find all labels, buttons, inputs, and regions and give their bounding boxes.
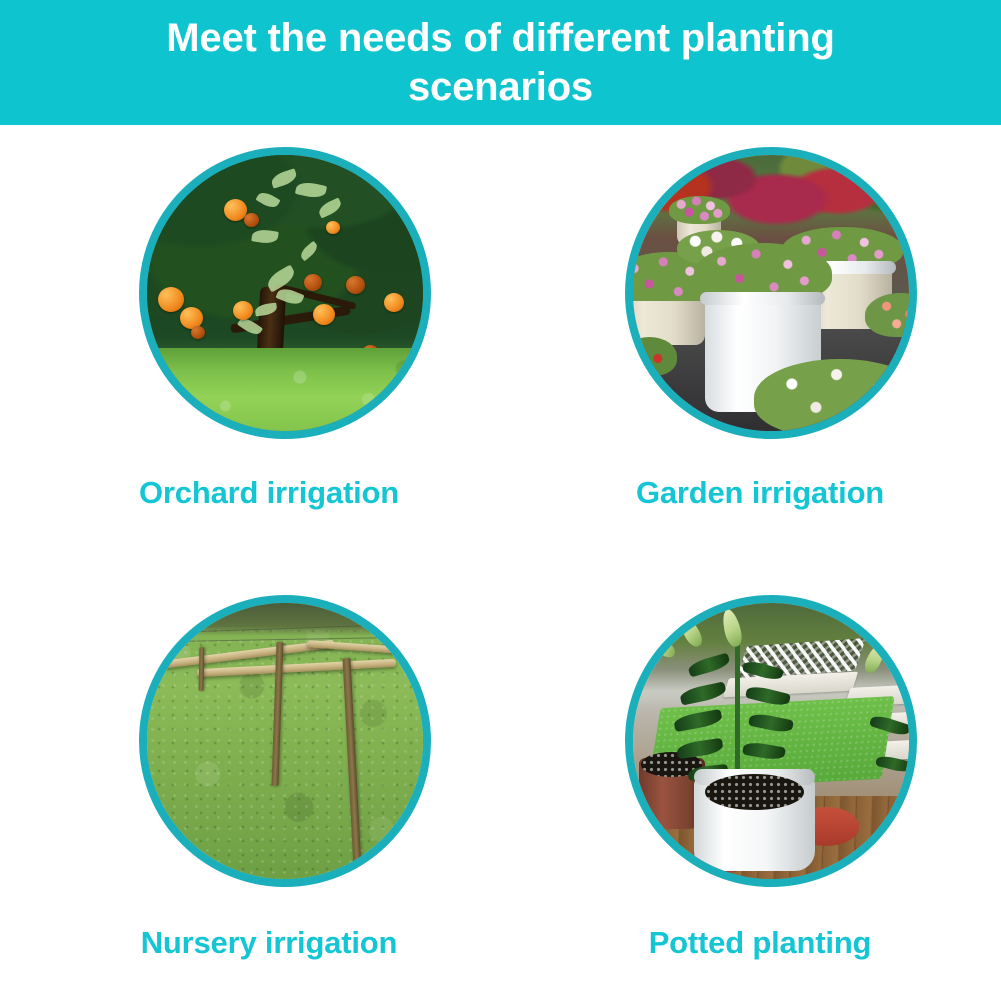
flower-cluster — [633, 337, 677, 376]
orange-fruit — [313, 304, 335, 325]
page-title: Meet the needs of different planting sce… — [91, 14, 911, 112]
nursery-photo — [139, 595, 431, 887]
caption-orchard: Orchard irrigation — [0, 475, 500, 511]
scenario-grid: Orchard irrigation — [0, 125, 1001, 1001]
nursery-circle-frame — [139, 595, 431, 887]
orchard-grass — [147, 348, 423, 431]
garden-scene — [633, 155, 909, 431]
infographic-page: Meet the needs of different planting sce… — [0, 0, 1001, 1001]
flower-cluster — [754, 359, 909, 431]
orchard-scene — [147, 155, 423, 431]
scenario-card-nursery: Nursery irrigation — [0, 563, 500, 1001]
scenario-card-potted: Potted planting — [501, 563, 1001, 1001]
pot-soil — [705, 774, 804, 810]
flower-cluster — [669, 196, 730, 224]
orange-fruit — [244, 213, 259, 227]
potted-scene — [633, 603, 909, 879]
orchard-canopy — [147, 155, 423, 370]
caption-garden: Garden irrigation — [501, 475, 1001, 511]
orange-fruit — [233, 301, 253, 320]
orchard-photo — [139, 147, 431, 439]
scenario-card-orchard: Orchard irrigation — [0, 125, 500, 563]
orange-fruit — [304, 274, 322, 291]
potted-photo — [625, 595, 917, 887]
scenario-card-garden: Garden irrigation — [501, 125, 1001, 563]
caption-potted: Potted planting — [501, 925, 1001, 961]
nursery-scene — [147, 603, 423, 879]
pot-rim — [700, 292, 825, 305]
potted-circle-frame — [625, 595, 917, 887]
caption-nursery: Nursery irrigation — [0, 925, 500, 961]
garden-circle-frame — [625, 147, 917, 439]
orchard-circle-frame — [139, 147, 431, 439]
header-banner: Meet the needs of different planting sce… — [0, 0, 1001, 125]
lily-stem — [735, 625, 740, 785]
garden-photo — [625, 147, 917, 439]
